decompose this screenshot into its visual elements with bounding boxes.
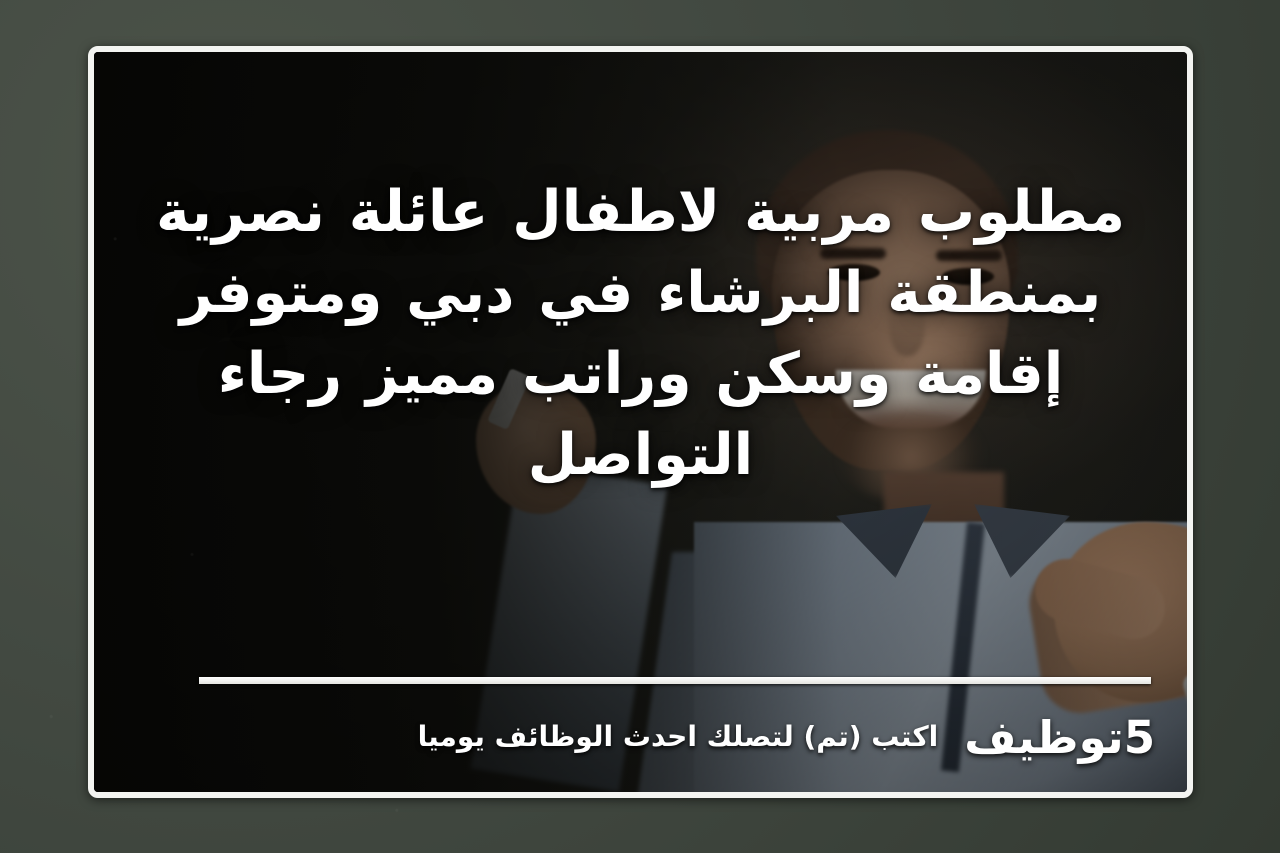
footer-divider bbox=[199, 677, 1151, 684]
page-backdrop: مطلوب مربية لاطفال عائلة نصرية بمنطقة ال… bbox=[0, 0, 1280, 853]
footer-bar: 5توظيف اكتب (تم) لتصلك احدث الوظائف يومي… bbox=[154, 702, 1155, 772]
brand-logo-text: 5توظيف bbox=[964, 715, 1155, 760]
job-ad-card: مطلوب مربية لاطفال عائلة نصرية بمنطقة ال… bbox=[88, 46, 1193, 798]
footer-tagline: اكتب (تم) لتصلك احدث الوظائف يوميا bbox=[418, 723, 939, 751]
headline-text: مطلوب مربية لاطفال عائلة نصرية بمنطقة ال… bbox=[134, 172, 1147, 496]
